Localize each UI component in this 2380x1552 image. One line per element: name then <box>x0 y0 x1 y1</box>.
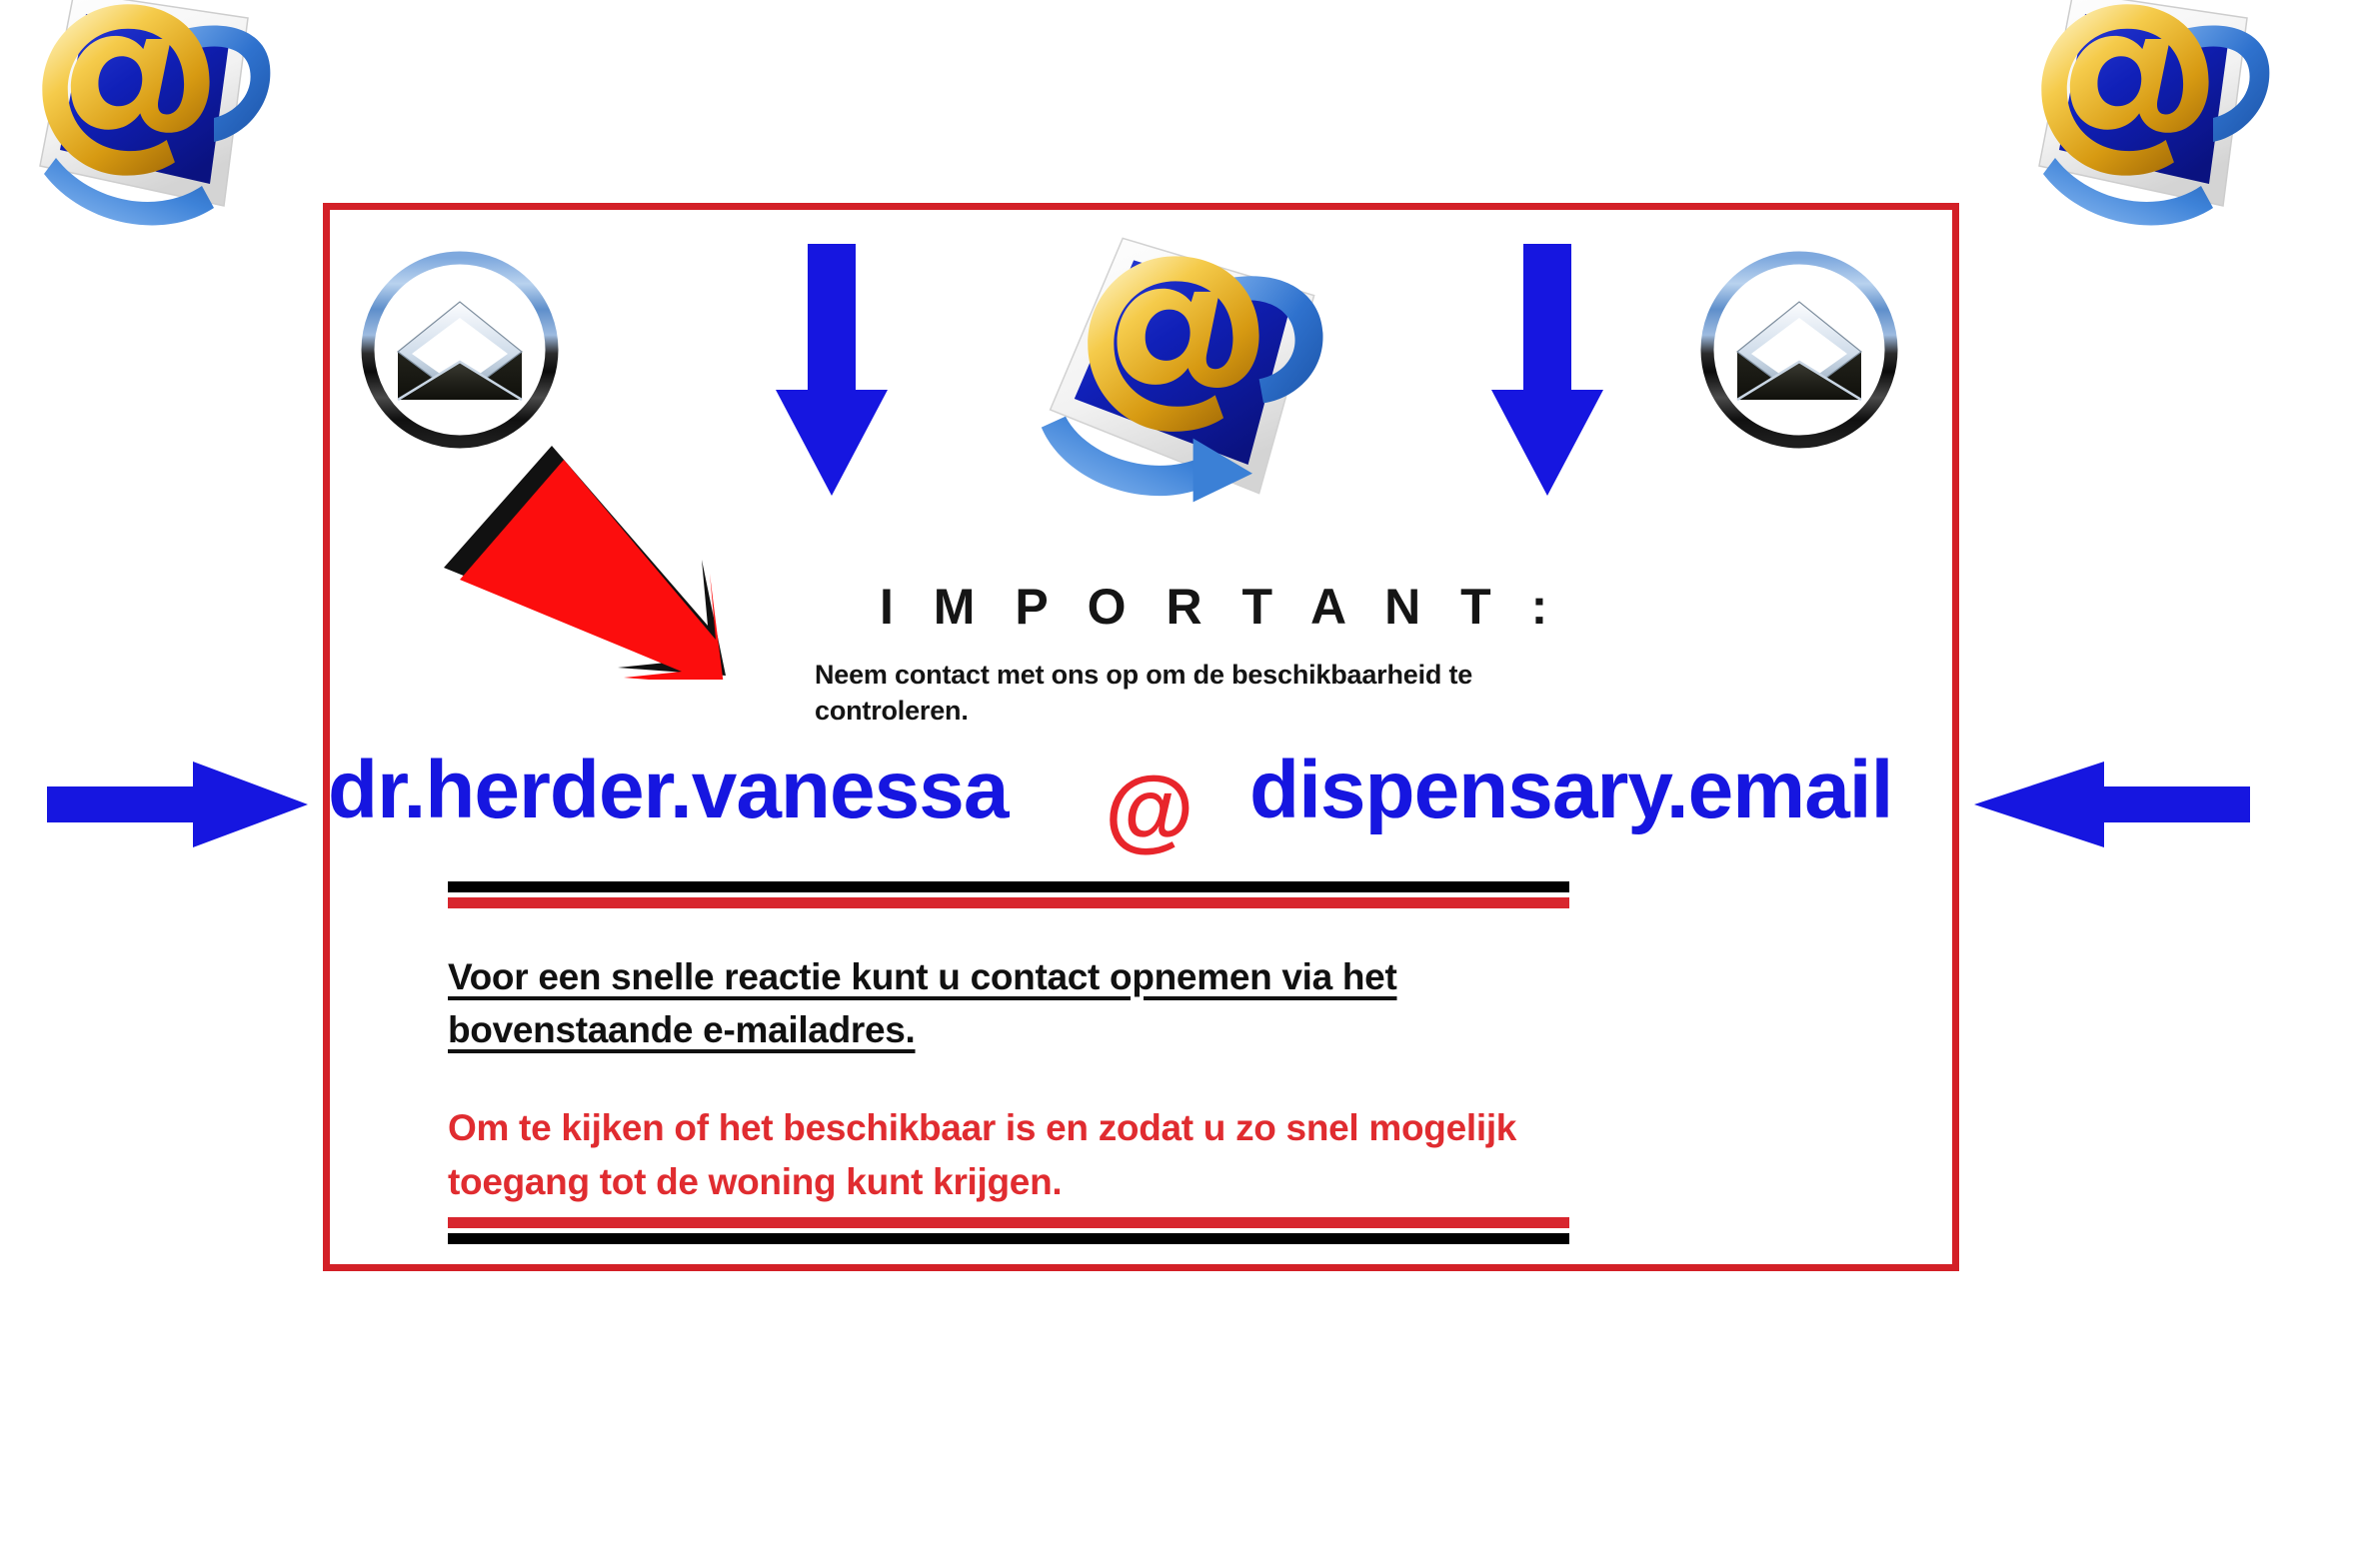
arrow-right-left-side <box>45 760 310 849</box>
at-symbol-icon: @ <box>1105 764 1194 855</box>
email-domain-part[interactable]: dispensary.email <box>1249 744 1892 837</box>
divider-top-red-line <box>448 897 1569 908</box>
arrow-down-right <box>1487 240 1607 500</box>
divider-bottom <box>448 1217 1569 1244</box>
notice-subheading: Neem contact met ons op om de beschikbaa… <box>815 658 1604 729</box>
divider-top <box>448 881 1569 908</box>
email-address-row[interactable]: dr.herder.vanessa @ dispensary.email <box>323 744 1959 863</box>
email-clipart-top-left <box>0 0 278 250</box>
email-clipart-top-right <box>1977 0 2277 250</box>
body-text-black-inner: Voor een snelle reactie kunt u contact o… <box>448 956 1397 1050</box>
arrow-left-right-side <box>1972 760 2252 849</box>
arrow-down-left <box>772 240 892 500</box>
body-text-red: Om te kijken of het beschikbaar is en zo… <box>448 1101 1657 1208</box>
important-heading: I M P O R T A N T : <box>880 578 1560 636</box>
divider-top-black-line <box>448 881 1569 892</box>
email-clipart-center <box>1000 212 1329 542</box>
divider-bottom-red-line <box>448 1217 1569 1228</box>
circle-envelope-right <box>1699 250 1899 450</box>
flyer-canvas: I M P O R T A N T : Neem contact met ons… <box>0 0 2380 1552</box>
divider-bottom-black-line <box>448 1233 1569 1244</box>
body-text-black: Voor een snelle reactie kunt u contact o… <box>448 951 1567 1056</box>
email-local-part[interactable]: dr.herder.vanessa <box>328 744 1008 837</box>
arrow-diagonal-red <box>440 430 730 680</box>
circle-envelope-left <box>360 250 560 450</box>
